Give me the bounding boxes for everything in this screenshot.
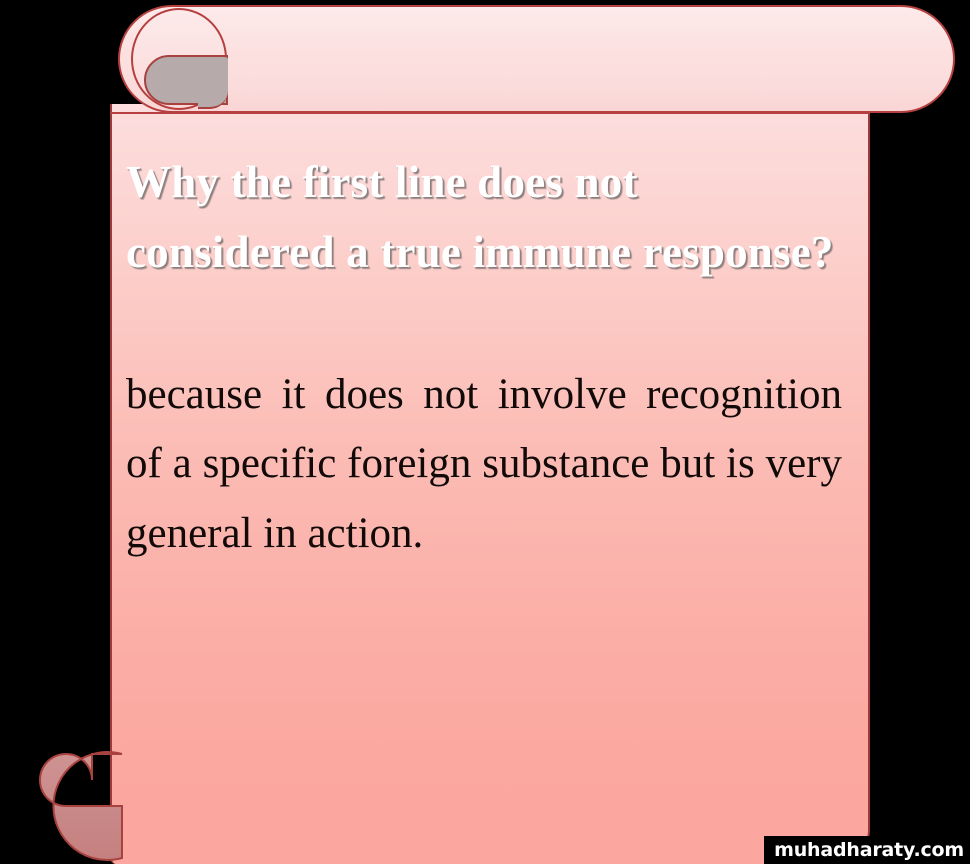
page-title: Why the first line does not considered a… <box>126 148 842 288</box>
paper-curl-flap-icon <box>144 55 228 105</box>
slide-body-text: because it does not involve recognition … <box>126 360 842 569</box>
paper-curl-spiral-icon <box>14 748 138 864</box>
scroll-roll-banner <box>118 5 955 113</box>
watermark-bar: muhadharaty.com <box>764 836 970 864</box>
slide-canvas: Why the first line does not considered a… <box>0 0 970 864</box>
slide-text-area: Why the first line does not considered a… <box>126 148 842 568</box>
watermark-text: muhadharaty.com <box>774 841 964 860</box>
title-body-spacer <box>126 288 842 360</box>
